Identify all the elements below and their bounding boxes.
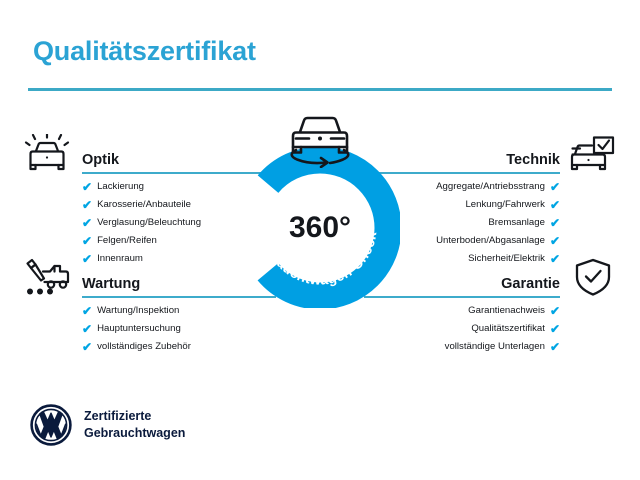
section-optik-list: ✔ Lackierung ✔ Karosserie/Anbauteile ✔ V… xyxy=(82,178,254,268)
section-garantie-list: Garantienachweis ✔ Qualitätszertifikat ✔… xyxy=(386,302,560,356)
check-icon: ✔ xyxy=(82,199,92,211)
section-technik-header: Technik xyxy=(386,134,616,178)
title-divider xyxy=(28,88,612,91)
footer-brand: Zertifizierte Gebrauchtwagen xyxy=(30,404,185,446)
check-icon: ✔ xyxy=(82,341,92,353)
section-garantie: Garantie Garantienachweis ✔ Qualitätszer… xyxy=(386,258,616,356)
badge-ring: Gebrauchtwagen-Check xyxy=(240,148,400,308)
page-title: Qualitätszertifikat xyxy=(33,36,256,67)
list-item: ✔ Lackierung xyxy=(82,178,254,196)
check-icon: ✔ xyxy=(82,323,92,335)
car-service-icon xyxy=(24,258,70,298)
list-item: Aggregate/Antriebsstrang ✔ xyxy=(386,178,560,196)
car-checkbox-icon xyxy=(570,134,616,174)
list-item: Bremsanlage ✔ xyxy=(386,214,560,232)
section-wartung-title: Wartung xyxy=(82,276,140,292)
list-item-label: Lenkung/Fahrwerk xyxy=(465,200,544,210)
car-shine-icon xyxy=(24,134,70,174)
check-icon: ✔ xyxy=(82,305,92,317)
list-item-label: Wartung/Inspektion xyxy=(97,306,179,316)
list-item: ✔ Felgen/Reifen xyxy=(82,232,254,250)
section-garantie-header: Garantie xyxy=(386,258,616,302)
check-icon: ✔ xyxy=(82,235,92,247)
section-technik: Technik Aggregate/Antriebsstrang ✔ Lenku… xyxy=(386,134,616,268)
badge-360-gebrauchtwagen-check: Gebrauchtwagen-Check 360° xyxy=(240,148,400,308)
footer-text: Zertifizierte Gebrauchtwagen xyxy=(84,408,185,442)
list-item: Unterboden/Abgasanlage ✔ xyxy=(386,232,560,250)
section-optik-title: Optik xyxy=(82,152,119,168)
list-item-label: Felgen/Reifen xyxy=(97,236,157,246)
list-item: Garantienachweis ✔ xyxy=(386,302,560,320)
check-icon: ✔ xyxy=(550,235,560,247)
section-wartung: Wartung ✔ Wartung/Inspektion ✔ Hauptunte… xyxy=(24,258,254,356)
list-item-label: vollständige Unterlagen xyxy=(445,342,545,352)
section-optik-header: Optik xyxy=(24,134,254,178)
list-item: ✔ Wartung/Inspektion xyxy=(82,302,254,320)
list-item-label: Hauptuntersuchung xyxy=(97,324,181,334)
qualitaetszertifikat-page: Qualitätszertifikat Optik ✔ La xyxy=(0,0,640,480)
list-item: ✔ Verglasung/Beleuchtung xyxy=(82,214,254,232)
list-item: Qualitätszertifikat ✔ xyxy=(386,320,560,338)
list-item: Lenkung/Fahrwerk ✔ xyxy=(386,196,560,214)
check-icon: ✔ xyxy=(550,199,560,211)
section-garantie-title: Garantie xyxy=(501,276,560,292)
list-item: ✔ Karosserie/Anbauteile xyxy=(82,196,254,214)
check-icon: ✔ xyxy=(82,217,92,229)
section-wartung-header: Wartung xyxy=(24,258,254,302)
volkswagen-logo xyxy=(30,404,72,446)
shield-check-icon xyxy=(570,258,616,298)
list-item-label: Garantienachweis xyxy=(468,306,545,316)
footer-line-2: Gebrauchtwagen xyxy=(84,425,185,442)
list-item: vollständige Unterlagen ✔ xyxy=(386,338,560,356)
list-item-label: Bremsanlage xyxy=(488,218,545,228)
list-item-label: Unterboden/Abgasanlage xyxy=(436,236,545,246)
section-optik: Optik ✔ Lackierung ✔ Karosserie/Anbautei… xyxy=(24,134,254,268)
check-icon: ✔ xyxy=(550,305,560,317)
list-item-label: Verglasung/Beleuchtung xyxy=(97,218,201,228)
check-icon: ✔ xyxy=(550,181,560,193)
check-icon: ✔ xyxy=(550,323,560,335)
check-icon: ✔ xyxy=(550,217,560,229)
section-technik-list: Aggregate/Antriebsstrang ✔ Lenkung/Fahrw… xyxy=(386,178,560,268)
check-icon: ✔ xyxy=(82,181,92,193)
list-item-label: Lackierung xyxy=(97,182,144,192)
list-item-label: Qualitätszertifikat xyxy=(471,324,545,334)
list-item-label: Karosserie/Anbauteile xyxy=(97,200,191,210)
list-item-label: vollständiges Zubehör xyxy=(97,342,191,352)
list-item: ✔ vollständiges Zubehör xyxy=(82,338,254,356)
footer-line-1: Zertifizierte xyxy=(84,408,185,425)
car-rotate-icon xyxy=(282,112,358,168)
list-item-label: Aggregate/Antriebsstrang xyxy=(436,182,545,192)
section-wartung-list: ✔ Wartung/Inspektion ✔ Hauptuntersuchung… xyxy=(82,302,254,356)
check-icon: ✔ xyxy=(550,341,560,353)
section-technik-title: Technik xyxy=(506,152,560,168)
list-item: ✔ Hauptuntersuchung xyxy=(82,320,254,338)
